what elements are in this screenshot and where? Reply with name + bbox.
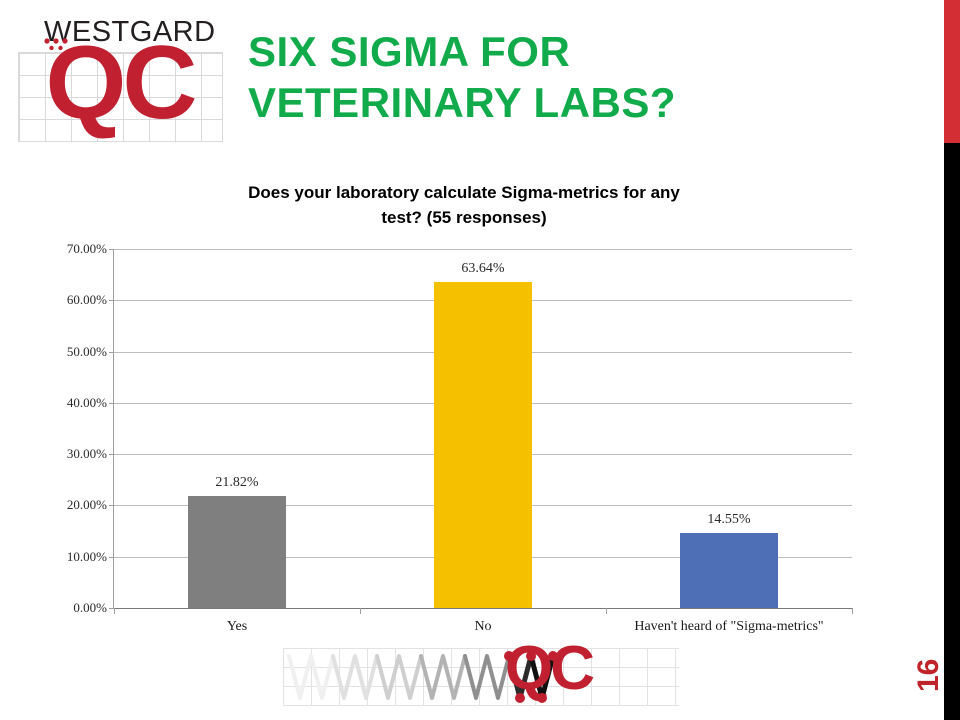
footer-logo-qc-mark: QC [505,638,592,700]
y-axis-tick-label: 30.00% [67,446,107,462]
rail-red-segment [944,0,960,143]
x-axis-tick-mark [852,608,853,614]
y-axis-tick-mark [109,300,114,301]
y-axis-tick-label: 40.00% [67,395,107,411]
westgard-qc-logo: WESTGARD QC [18,16,223,142]
y-axis-tick-label: 0.00% [73,600,107,616]
page-number: 16 [912,636,946,714]
x-axis-tick-mark [606,608,607,614]
chart-bar: 14.55% [680,533,778,608]
y-axis-tick-label: 10.00% [67,549,107,565]
footer-logo-zigzag-icon [283,648,679,710]
x-axis-category-label: Yes [227,619,247,635]
y-axis-tick-mark [109,352,114,353]
page-title-line-1: SIX SIGMA FOR [248,26,828,77]
y-axis-tick-label: 20.00% [67,497,107,513]
footer-wqc-logo: QC [283,648,679,714]
y-axis-tick-mark [109,557,114,558]
y-axis-tick-label: 50.00% [67,344,107,360]
chart-bar-value-label: 21.82% [215,475,258,491]
y-axis-tick-label: 60.00% [67,292,107,308]
page-title-line-2: VETERINARY LABS? [248,77,828,128]
y-axis-tick-label: 70.00% [67,241,107,257]
chart-title-line-1: Does your laboratory calculate Sigma-met… [248,183,680,202]
y-axis-tick-mark [109,403,114,404]
y-axis-tick-mark [109,249,114,250]
rail-black-segment [944,143,960,720]
page-title: SIX SIGMA FOR VETERINARY LABS? [248,26,828,128]
x-axis-category-label: No [474,619,491,635]
chart-bar-value-label: 14.55% [707,512,750,528]
y-axis-tick-mark [109,454,114,455]
chart-plot-area: 0.00%10.00%20.00%30.00%40.00%50.00%60.00… [113,249,852,609]
y-axis-tick-mark [109,505,114,506]
chart-bar-value-label: 63.64% [461,261,504,277]
x-axis-category-label: Haven't heard of "Sigma-metrics" [634,619,823,635]
chart-bar: 63.64% [434,282,532,608]
logo-qc-mark: QC [17,31,222,135]
chart-bar: 21.82% [188,496,286,608]
survey-bar-chart: Does your laboratory calculate Sigma-met… [24,170,874,645]
chart-title-line-2: test? (55 responses) [381,208,546,227]
x-axis-tick-mark [360,608,361,614]
chart-gridline [114,249,852,250]
x-axis-tick-mark [114,608,115,614]
chart-title: Does your laboratory calculate Sigma-met… [124,180,804,230]
logo-grid-background: QC [18,52,223,142]
right-edge-rail [944,0,960,720]
